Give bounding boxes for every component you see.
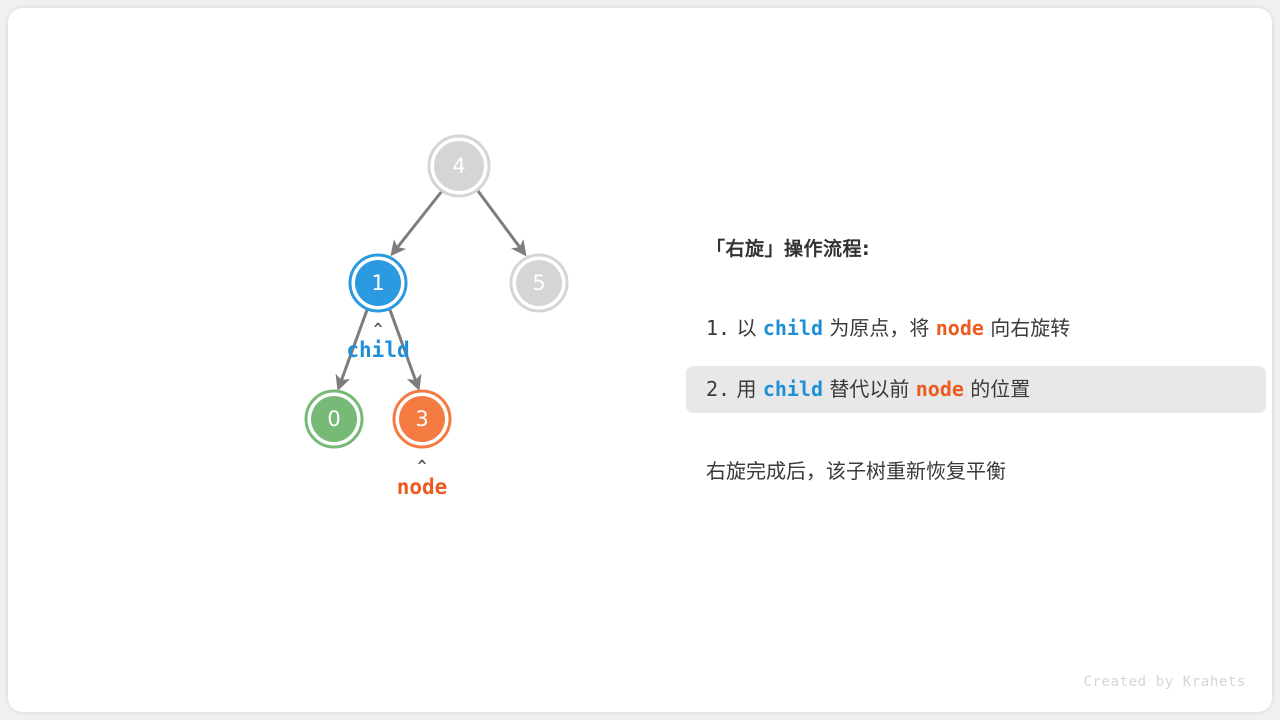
tree-node-0[interactable]: 0: [306, 391, 362, 447]
tree-node-1[interactable]: 1: [350, 255, 406, 311]
annotation-child: ^ child: [346, 320, 409, 362]
annotation-node: ^ node: [397, 457, 448, 499]
slide-card: 4 1 5 0: [8, 8, 1272, 712]
step-1-text-b: 为原点，将: [829, 316, 929, 340]
step-2-keyword-child: child: [763, 377, 823, 401]
step-2-text-b: 替代以前: [829, 377, 909, 401]
watermark-credit: Created by Krahets: [1083, 674, 1246, 690]
node-caret-icon: ^: [417, 457, 426, 475]
step-1-keyword-node: node: [936, 316, 984, 340]
child-label: child: [346, 338, 409, 362]
tree-node-5[interactable]: 5: [511, 255, 567, 311]
step-1-index: 1.: [706, 316, 730, 340]
step-2-index: 2.: [706, 377, 730, 401]
panel-footnote: 右旋完成后，该子树重新恢复平衡: [706, 455, 1246, 484]
step-2-text-c: 的位置: [970, 377, 1030, 401]
step-1-text-a: 以: [736, 316, 756, 340]
node-label: node: [397, 475, 448, 499]
node-0-value: 0: [327, 407, 340, 431]
step-item-1: 1. 以 child 为原点，将 node 向右旋转: [686, 305, 1266, 352]
panel-title: 「右旋」操作流程:: [706, 234, 1246, 261]
child-caret-icon: ^: [373, 320, 382, 338]
node-3-value: 3: [415, 407, 428, 431]
edge-4-to-5: [478, 191, 524, 253]
edge-4-to-1: [393, 191, 442, 253]
tree-svg: 4 1 5 0: [8, 8, 668, 712]
step-2-keyword-node: node: [916, 377, 964, 401]
node-5-value: 5: [532, 271, 545, 295]
node-1-value: 1: [371, 271, 384, 295]
step-1-keyword-child: child: [763, 316, 823, 340]
node-4-value: 4: [452, 154, 465, 178]
step-item-2: 2. 用 child 替代以前 node 的位置: [686, 366, 1266, 413]
explanation-panel: 「右旋」操作流程: 1. 以 child 为原点，将 node 向右旋转 2. …: [706, 234, 1246, 484]
tree-node-3[interactable]: 3: [394, 391, 450, 447]
tree-diagram: 4 1 5 0: [8, 8, 668, 712]
step-2-text-a: 用: [736, 377, 756, 401]
tree-node-4[interactable]: 4: [429, 136, 489, 196]
step-1-text-c: 向右旋转: [990, 316, 1070, 340]
